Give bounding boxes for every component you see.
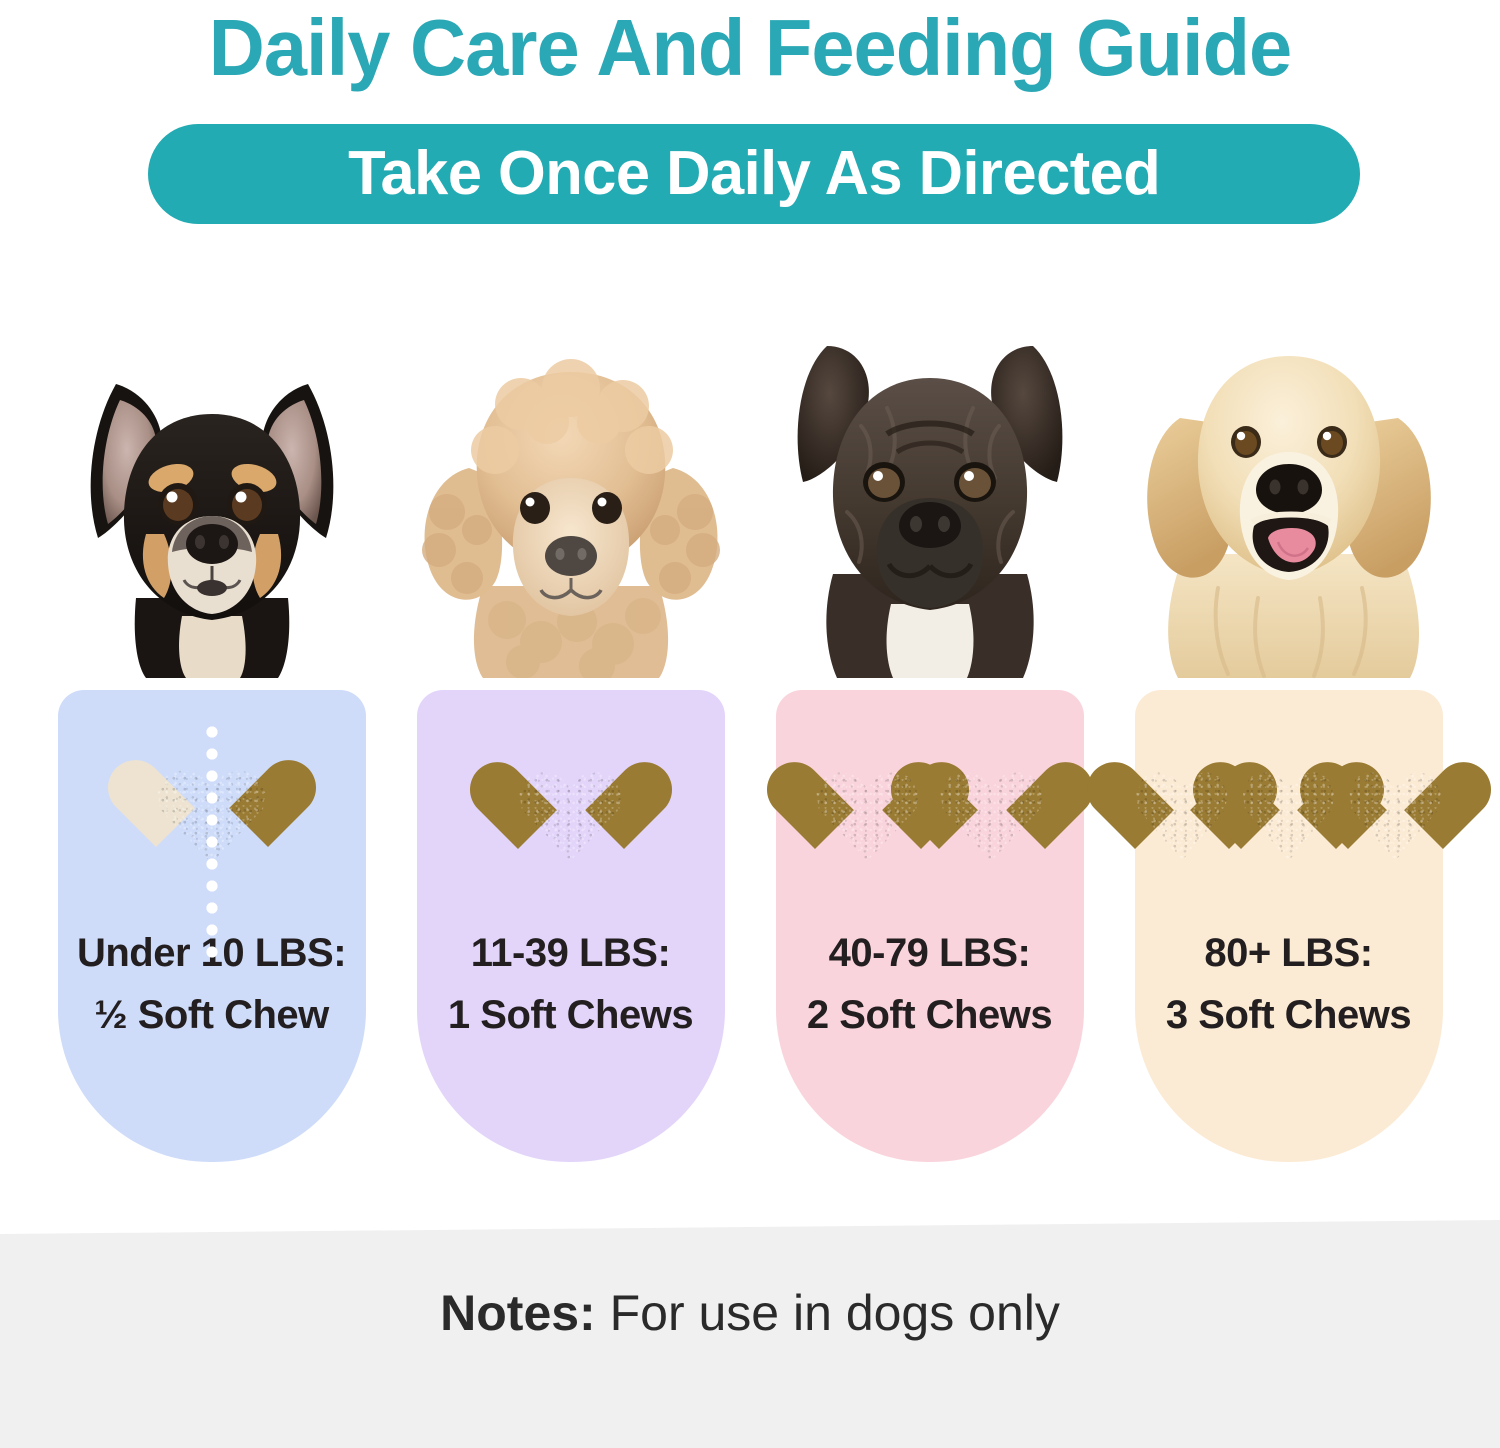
dose-label: 2 Soft Chews — [776, 984, 1084, 1046]
footer-note: Notes: For use in dogs only — [0, 1283, 1500, 1343]
dosage-card-11-39-lbs[interactable]: 11-39 LBS: 1 Soft Chews — [395, 300, 747, 1180]
soft-chew-icon — [1348, 765, 1443, 861]
dosage-text-80-plus-lbs: 80+ LBS: 3 Soft Chews — [1135, 922, 1443, 1046]
chew-icons-row — [58, 738, 366, 888]
half-soft-chew-icon — [156, 763, 268, 863]
soft-chew-icon — [518, 765, 624, 861]
dog-photo-french-bulldog — [769, 316, 1091, 678]
dose-label: ½ Soft Chew — [58, 984, 366, 1046]
dosage-card-80-plus-lbs[interactable]: 80+ LBS: 3 Soft Chews — [1113, 300, 1465, 1180]
weight-range-label: 80+ LBS: — [1204, 931, 1372, 975]
chew-texture — [1348, 765, 1443, 861]
dose-label: 1 Soft Chews — [417, 984, 725, 1046]
chew-texture — [939, 765, 1045, 861]
footer-bar: Notes: For use in dogs only — [0, 1220, 1500, 1448]
chew-icons-row — [776, 738, 1084, 888]
page-title: Daily Care And Feeding Guide — [23, 2, 1478, 94]
dotted-split-line — [205, 721, 218, 967]
dose-label: 3 Soft Chews — [1135, 984, 1443, 1046]
dog-photo-chihuahua — [54, 348, 370, 678]
footer-note-text: For use in dogs only — [596, 1285, 1060, 1341]
dosage-panel-11-39-lbs: 11-39 LBS: 1 Soft Chews — [417, 690, 725, 1162]
weight-range-label: 11-39 LBS: — [471, 931, 671, 975]
dosage-card-under-10-lbs[interactable]: Under 10 LBS: ½ Soft Chew — [36, 300, 388, 1180]
weight-range-label: 40-79 LBS: — [829, 931, 1031, 975]
subtitle-badge-label: Take Once Daily As Directed — [348, 143, 1160, 205]
dosage-card-40-79-lbs[interactable]: 40-79 LBS: 2 Soft Chews — [754, 300, 1106, 1180]
soft-chew-icon — [939, 765, 1045, 861]
chew-texture — [518, 765, 624, 861]
subtitle-badge: Take Once Daily As Directed — [148, 124, 1360, 224]
dog-photo-poodle — [411, 350, 731, 678]
footer-note-label: Notes: — [440, 1285, 596, 1341]
dog-photo-golden-retriever — [1124, 322, 1454, 678]
dosage-card-grid: Under 10 LBS: ½ Soft Chew — [0, 300, 1500, 1180]
dosage-text-40-79-lbs: 40-79 LBS: 2 Soft Chews — [776, 922, 1084, 1046]
dosage-panel-40-79-lbs: 40-79 LBS: 2 Soft Chews — [776, 690, 1084, 1162]
chew-icons-row — [1135, 738, 1443, 888]
dosage-panel-80-plus-lbs: 80+ LBS: 3 Soft Chews — [1135, 690, 1443, 1162]
dosage-panel-under-10-lbs: Under 10 LBS: ½ Soft Chew — [58, 690, 366, 1162]
dosage-text-11-39-lbs: 11-39 LBS: 1 Soft Chews — [417, 922, 725, 1046]
chew-icons-row — [417, 738, 725, 888]
